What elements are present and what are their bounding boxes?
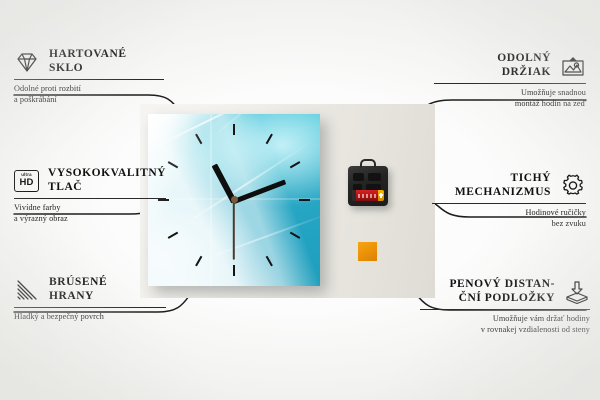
mechanism-detail: [353, 173, 364, 181]
feature-desc-line2: montáž hodin na zeď: [515, 99, 586, 108]
feature-heading: PENOVÝ DISTAN- ČNÍ PODLOŽKY: [420, 278, 590, 305]
feature-title: BRÚSENÉ HRANY: [49, 276, 107, 303]
feature-desc-line2: a výrazný obraz: [14, 214, 68, 223]
battery-label: [358, 194, 376, 198]
feature-ground-edges: BRÚSENÉ HRANY Hladký a bezpečný povrch: [14, 276, 166, 323]
feature-heading: HARTOVANÉ SKLO: [14, 48, 164, 75]
feature-heading: TICHÝ MECHANIZMUS: [432, 172, 586, 199]
feature-title-line2: SKLO: [49, 62, 83, 74]
feature-description: Umožňuje vám držať hodiny v rovnakej vzd…: [420, 314, 590, 335]
feature-divider: [420, 309, 590, 310]
feature-title-line1: PENOVÝ DISTAN-: [449, 278, 555, 290]
feature-divider: [14, 307, 166, 308]
feature-title: HARTOVANÉ SKLO: [49, 48, 127, 75]
feature-title: VYSOKOKVALITNÝ TLAČ: [48, 167, 166, 194]
feature-title-line2: MECHANIZMUS: [455, 186, 551, 198]
feature-desc-line1: Umožňuje vám držať hodiny: [493, 314, 590, 323]
feature-description: Hladký a bezpečný povrch: [14, 312, 166, 323]
feature-description: Umožňuje snadnou montáž hodin na zeď: [434, 88, 586, 109]
foam-spacer-pad: [358, 242, 377, 261]
battery-negative-terminal: [352, 190, 356, 201]
arrow-onto-pad-icon: [564, 280, 590, 304]
feature-foam-spacers: PENOVÝ DISTAN- ČNÍ PODLOŽKY Umožňuje vám…: [420, 278, 590, 335]
feature-title-line1: HARTOVANÉ: [49, 48, 127, 60]
feature-description: Odolné proti rozbití a poškrábání: [14, 84, 164, 105]
feature-desc-line1: Odolné proti rozbití: [14, 84, 81, 93]
diamond-icon: [14, 50, 40, 74]
feature-desc-line2: v rovnakej vzdialenosti od steny: [481, 325, 590, 334]
infographic-canvas: HARTOVANÉ SKLO Odolné proti rozbití a po…: [0, 0, 600, 400]
mechanism-battery: [352, 190, 384, 201]
feature-divider: [14, 79, 164, 80]
feature-divider: [434, 83, 586, 84]
clock-mechanism: [348, 166, 388, 206]
feature-title-line1: VYSOKOKVALITNÝ: [48, 167, 166, 179]
feature-title-line2: DRŽIAK: [502, 66, 551, 78]
feature-title: PENOVÝ DISTAN- ČNÍ PODLOŽKY: [449, 278, 555, 305]
product-photo: [140, 104, 435, 298]
feature-title-line2: HRANY: [49, 290, 94, 302]
feature-desc-line1: Vivídne farby: [14, 203, 61, 212]
feature-tempered-glass: HARTOVANÉ SKLO Odolné proti rozbití a po…: [14, 48, 164, 105]
wall-clock: [148, 114, 320, 286]
feature-desc-line1: Hodinové ručičky: [526, 208, 587, 217]
feature-heading: BRÚSENÉ HRANY: [14, 276, 166, 303]
feature-durable-hanger: ODOLNÝ DRŽIAK Umožňuje snadnou montáž ho…: [434, 52, 586, 109]
feature-desc-line2: a poškrábání: [14, 95, 57, 104]
feature-high-quality-print: ultra HD VYSOKOKVALITNÝ TLAČ Vivídne far…: [14, 167, 166, 224]
feature-description: Vivídne farby a výrazný obraz: [14, 203, 166, 224]
framed-picture-hanger-icon: [560, 54, 586, 78]
feature-silent-mechanism: TICHÝ MECHANIZMUS Hodinové ručičky bez z…: [432, 172, 586, 229]
feature-divider: [14, 198, 166, 199]
badge-large-text: HD: [19, 178, 33, 188]
feature-title-line1: BRÚSENÉ: [49, 276, 107, 288]
feature-heading: ODOLNÝ DRŽIAK: [434, 52, 586, 79]
feature-description: Hodinové ručičky bez zvuku: [432, 208, 586, 229]
feature-title-line2: ČNÍ PODLOŽKY: [459, 292, 555, 304]
battery-positive-terminal: [378, 190, 384, 201]
mechanism-detail: [368, 173, 381, 181]
feature-desc-line2: bez zvuku: [552, 219, 586, 228]
feature-divider: [432, 203, 586, 204]
mechanism-hanging-hook: [360, 159, 376, 168]
feature-title: TICHÝ MECHANIZMUS: [455, 172, 551, 199]
feature-title: ODOLNÝ DRŽIAK: [497, 52, 551, 79]
feature-desc-line1: Umožňuje snadnou: [521, 88, 586, 97]
feature-desc-line1: Hladký a bezpečný povrch: [14, 312, 104, 321]
gear-icon: [560, 174, 586, 198]
glass-reflection: [148, 114, 320, 286]
feature-title-line1: TICHÝ: [511, 172, 551, 184]
feature-title-line1: ODOLNÝ: [497, 52, 551, 64]
diagonal-hatch-icon: [14, 278, 40, 302]
feature-title-line2: TLAČ: [48, 181, 82, 193]
feature-heading: ultra HD VYSOKOKVALITNÝ TLAČ: [14, 167, 166, 194]
ultra-hd-badge-icon: ultra HD: [14, 170, 39, 192]
